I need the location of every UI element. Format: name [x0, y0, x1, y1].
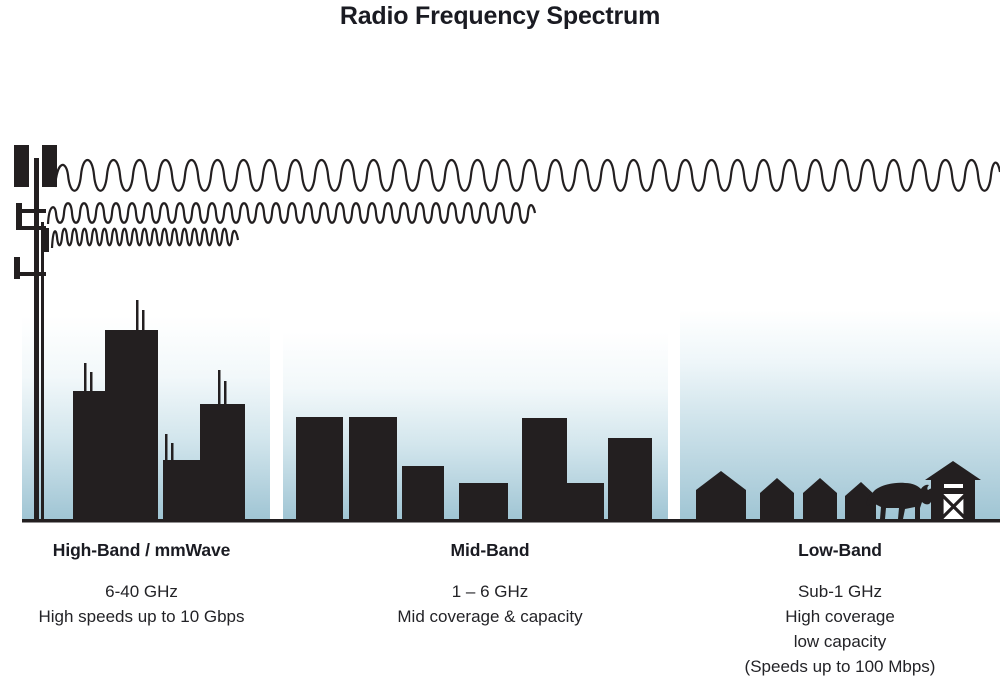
- suburban-building: [522, 418, 567, 519]
- building-spire: [224, 381, 227, 405]
- band-title-low-band: Low-Band: [680, 540, 1000, 561]
- city-building: [200, 404, 245, 519]
- city-building: [163, 460, 203, 519]
- band-description-mid-band: Mid coverage & capacity: [330, 604, 650, 629]
- band-frequency-low-band: Sub-1 GHz: [680, 579, 1000, 604]
- tower-antenna-panel-left: [14, 145, 29, 187]
- band-description-low-band-1: High coverage: [680, 604, 1000, 629]
- building-spire: [142, 310, 145, 332]
- long-wavelength-wave: [55, 160, 1000, 191]
- ground-baseline: [22, 519, 1000, 523]
- band-frequency-mid-band: 1 – 6 GHz: [330, 579, 650, 604]
- band-description-high-band: High speeds up to 10 Gbps: [0, 604, 283, 629]
- band-frequency-high-band: 6-40 GHz: [0, 579, 283, 604]
- band-captions: High-Band / mmWave 6-40 GHz High speeds …: [0, 540, 1000, 700]
- suburban-building: [608, 438, 652, 519]
- suburban-building: [567, 483, 604, 519]
- tower-antenna-small-mid: [43, 228, 49, 252]
- barn-door-frame-left: [941, 494, 944, 519]
- infographic-root: Radio Frequency Spectrum: [0, 0, 1000, 700]
- tower-antenna-small-left-upper: [16, 203, 22, 227]
- tower-mast-secondary: [41, 222, 44, 519]
- barn-window: [944, 484, 963, 488]
- short-wavelength-wave: [52, 229, 238, 248]
- building-spire: [90, 372, 93, 393]
- medium-wavelength-wave: [48, 203, 535, 224]
- band-column-high-band: High-Band / mmWave 6-40 GHz High speeds …: [0, 540, 283, 629]
- band-title-mid-band: Mid-Band: [330, 540, 650, 561]
- tower-antenna-small-lower: [14, 257, 20, 279]
- city-building: [73, 391, 105, 519]
- building-spire: [136, 300, 139, 332]
- suburban-building: [296, 417, 343, 519]
- city-building: [105, 330, 158, 519]
- building-spire: [165, 434, 168, 461]
- spectrum-scene: [0, 0, 1000, 545]
- band-column-mid-band: Mid-Band 1 – 6 GHz Mid coverage & capaci…: [330, 540, 650, 629]
- suburban-building: [402, 466, 444, 519]
- radio-waves: [48, 160, 1000, 248]
- suburban-building: [459, 483, 508, 519]
- suburban-building: [349, 417, 397, 519]
- building-spire: [171, 443, 174, 461]
- barn-door-frame-right: [963, 494, 966, 519]
- building-spire: [84, 363, 87, 393]
- band-description-low-band-3: (Speeds up to 100 Mbps): [680, 654, 1000, 679]
- band-description-low-band-2: low capacity: [680, 629, 1000, 654]
- band-column-low-band: Low-Band Sub-1 GHz High coverage low cap…: [680, 540, 1000, 679]
- building-spire: [218, 370, 221, 405]
- band-title-high-band: High-Band / mmWave: [0, 540, 283, 561]
